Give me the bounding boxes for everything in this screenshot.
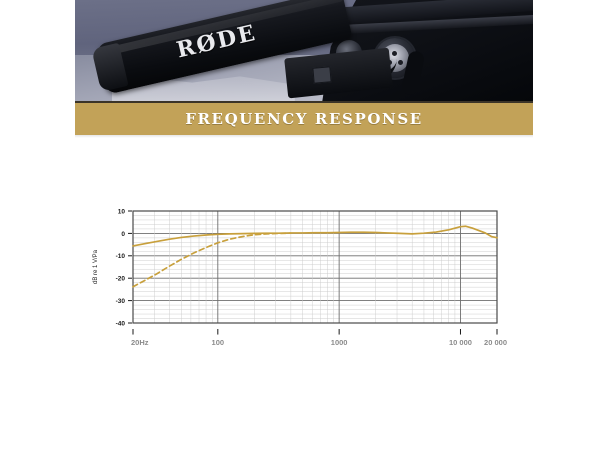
y-tick-label: -40 bbox=[116, 320, 126, 327]
y-tick-label: -20 bbox=[116, 276, 126, 283]
mic-switch-panel bbox=[312, 66, 331, 84]
y-axis-title: dB re 1 V/Pa bbox=[93, 249, 99, 284]
xlr-pin bbox=[392, 51, 397, 56]
x-tick-label: 20Hz bbox=[131, 338, 149, 347]
hero-photo: RØDE bbox=[75, 0, 533, 101]
y-tick-label: 10 bbox=[118, 208, 126, 215]
banner-dropshadow bbox=[75, 135, 533, 138]
page-title: FREQUENCY RESPONSE bbox=[185, 110, 423, 128]
section-banner: FREQUENCY RESPONSE bbox=[75, 101, 533, 135]
y-tick-label: -30 bbox=[116, 298, 126, 305]
x-tick-label: 100 bbox=[212, 338, 225, 347]
y-tick-label: 0 bbox=[121, 231, 125, 238]
x-tick-label: 1000 bbox=[331, 338, 348, 347]
x-tick-label: 10 000 bbox=[449, 338, 472, 347]
x-tick-label: 20 000 bbox=[484, 338, 507, 347]
y-tick-label: -10 bbox=[116, 253, 126, 260]
frequency-response-svg: 100-10-20-30-40dB re 1 V/Pa20Hz100100010… bbox=[75, 160, 533, 360]
frequency-response-chart: 100-10-20-30-40dB re 1 V/Pa20Hz100100010… bbox=[75, 160, 533, 360]
xlr-pin bbox=[398, 60, 403, 65]
page-root: RØDE FREQUENCY RESPONSE 100-10-20-30-40d… bbox=[0, 0, 610, 450]
